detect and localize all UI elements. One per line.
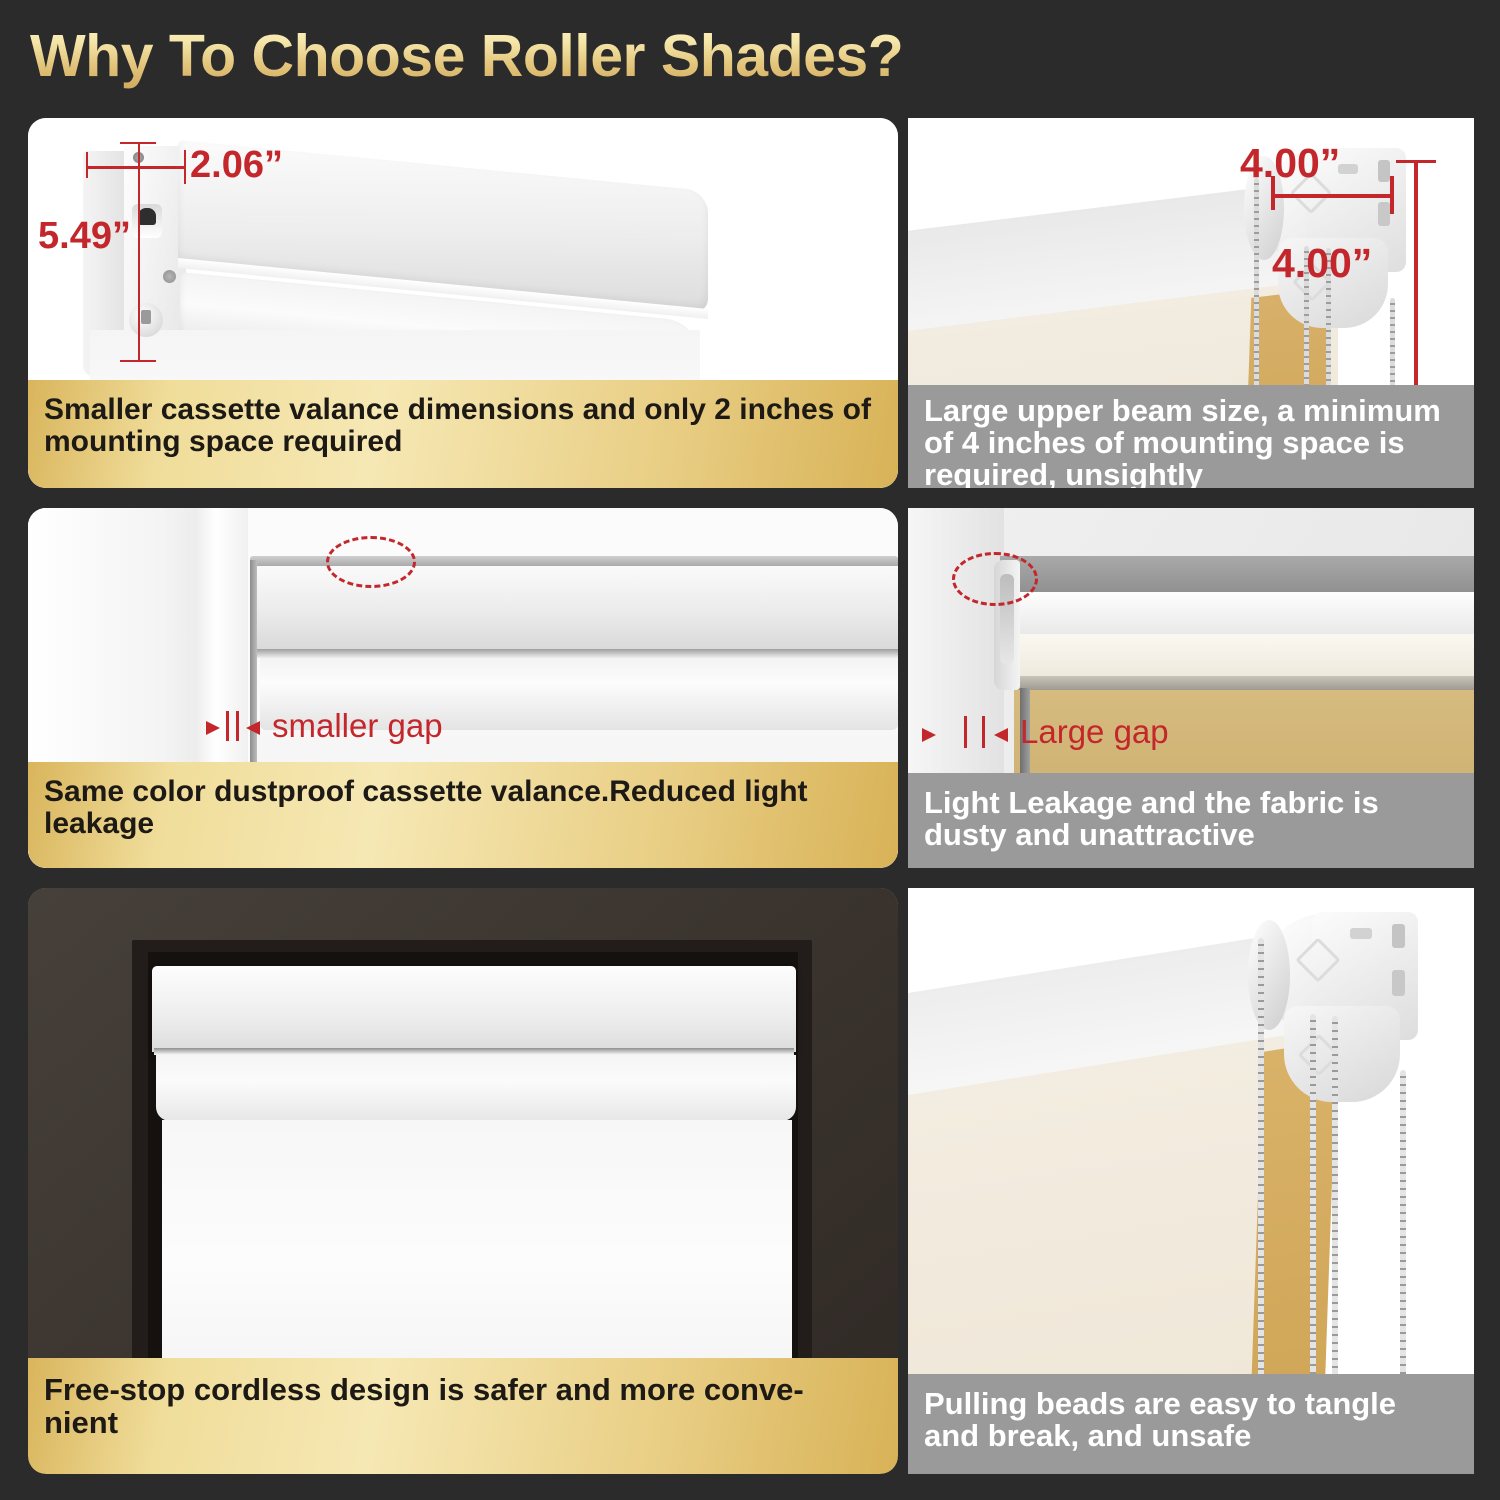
gap-highlight-ellipse: [326, 536, 416, 588]
panel-cassette-valance: 5.49” 2.06” Smaller cassette valance dim…: [28, 118, 898, 488]
width-dimension-line: [1272, 194, 1394, 198]
gap-arrow-right-icon: [246, 721, 260, 735]
gap-mark-a: [226, 711, 229, 741]
gap-mark-b: [982, 716, 985, 748]
gap-highlight-ellipse: [952, 552, 1038, 606]
panel-caption-cordless-design: Free-stop cordless design is safer and m…: [28, 1358, 898, 1474]
gap-arrow-left-icon: [922, 728, 936, 742]
panel-cordless-design: Free-stop cordless design is safer and m…: [28, 888, 898, 1474]
width-dimension-line: [86, 166, 186, 169]
infographic-page: Why To Choose Roller Shades?: [0, 0, 1500, 1500]
gap-mark-b: [236, 711, 239, 741]
width-dimension-tick-left: [86, 152, 88, 178]
gap-callout-label: smaller gap: [272, 707, 443, 745]
panel-large-upper-beam: 4.00” 4.00” Large upper beam size, a min…: [908, 118, 1474, 488]
height-dimension-line: [1414, 160, 1418, 420]
height-dimension-tick-top: [120, 142, 156, 144]
panel-pulling-beads: Pulling beads are easy to tangle and bre…: [908, 888, 1474, 1474]
panel-caption-dustproof-valance: Same color dustproof cassette valance.Re…: [28, 762, 898, 868]
gap-callout-label: Large gap: [1020, 713, 1169, 751]
panel-caption-pulling-beads: Pulling beads are easy to tangle and bre…: [908, 1374, 1474, 1474]
panel-caption-light-leakage: Light Leakage and the fabric is dusty an…: [908, 773, 1474, 868]
panel-dustproof-valance: smaller gap Same color dustproof cassett…: [28, 508, 898, 868]
page-title: Why To Choose Roller Shades?: [30, 22, 903, 90]
width-dimension-label: 4.00”: [1240, 140, 1340, 187]
height-dimension-tick-bottom: [120, 360, 156, 362]
panel-caption-large-upper-beam: Large upper beam size, a minimum of 4 in…: [908, 385, 1474, 488]
gap-mark-a: [964, 716, 967, 748]
height-dimension-label: 4.00”: [1272, 240, 1372, 287]
panel-light-leakage: Large gap Light Leakage and the fabric i…: [908, 508, 1474, 868]
height-dimension-label: 5.49”: [38, 215, 131, 258]
gap-arrow-right-icon: [994, 728, 1008, 742]
width-dimension-label: 2.06”: [190, 144, 283, 187]
height-dimension-line: [138, 142, 140, 362]
panel-caption-cassette-valance: Smaller cassette valance dimensions and …: [28, 380, 898, 488]
height-dimension-tick-top: [1396, 160, 1436, 163]
width-dimension-tick-right: [184, 150, 186, 184]
width-dimension-tick-right: [1390, 176, 1394, 214]
gap-arrow-left-icon: [206, 721, 220, 735]
